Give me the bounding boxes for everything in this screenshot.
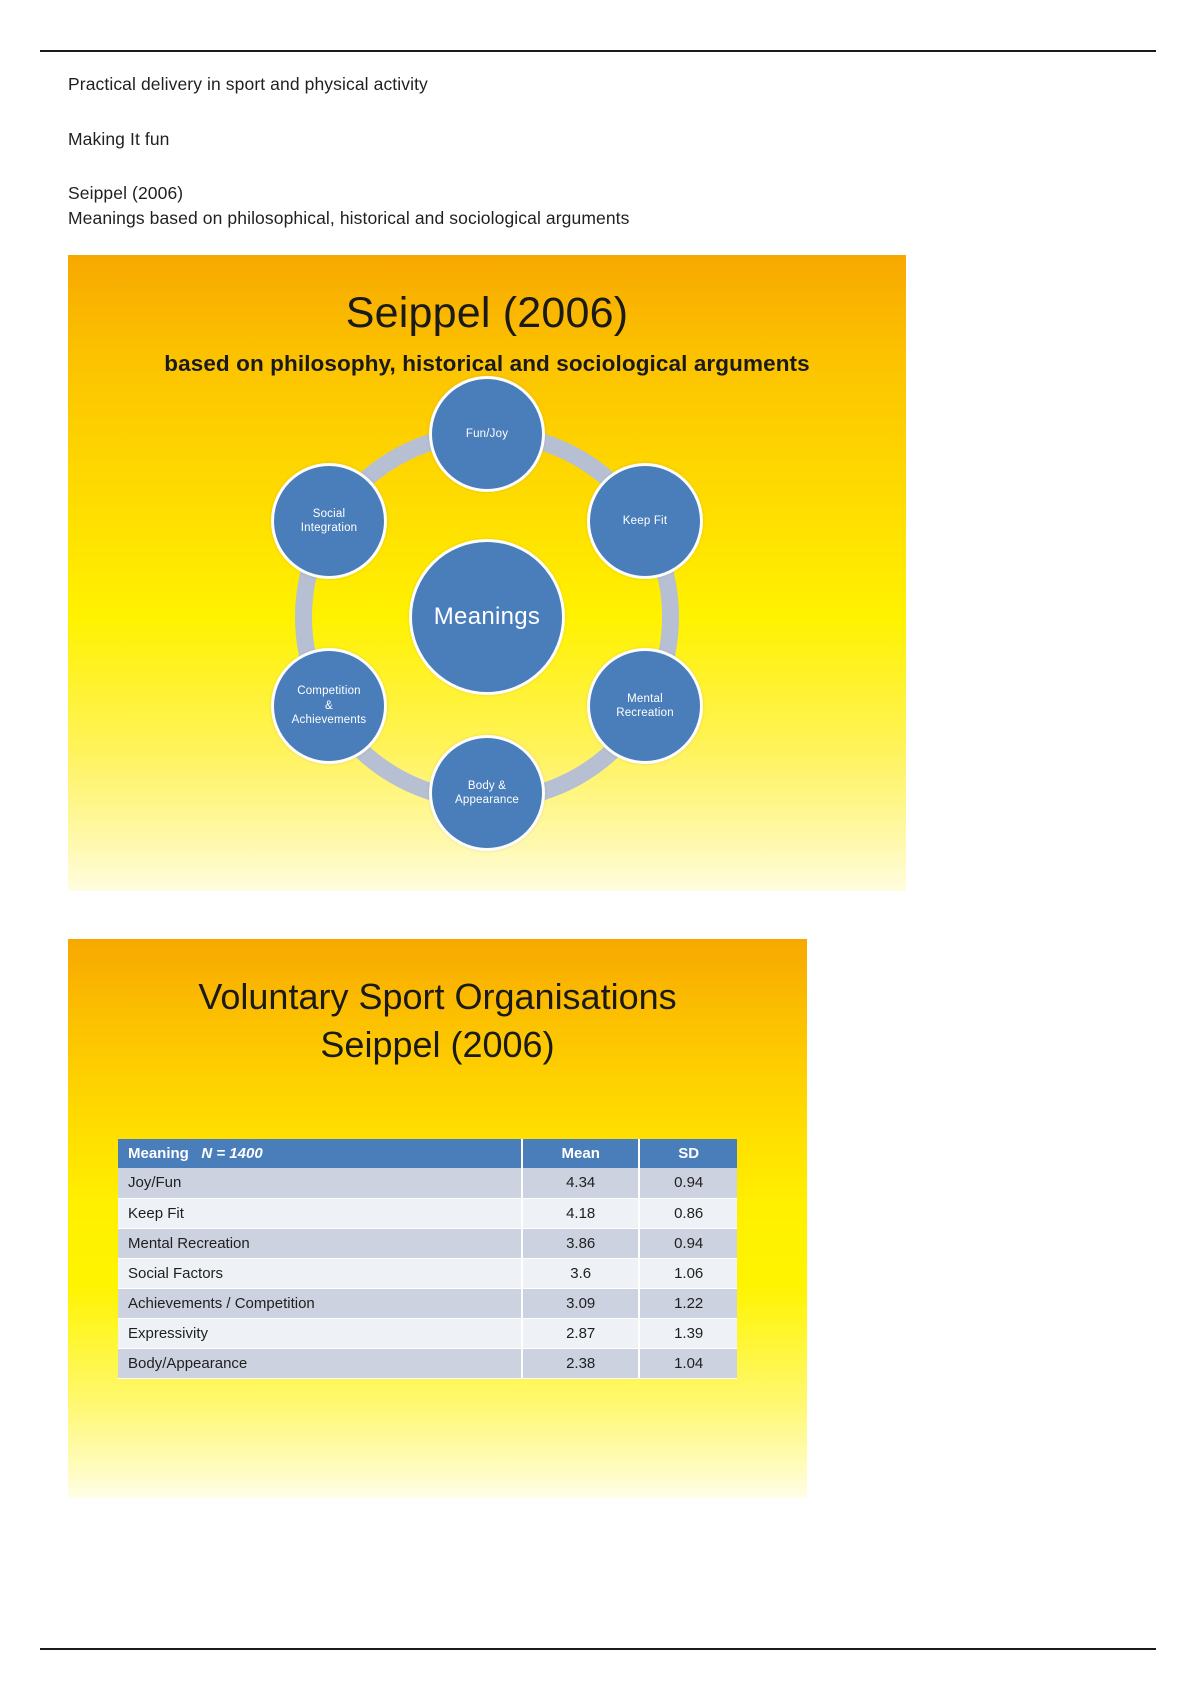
- slide-seippel-cycle: Seippel (2006) based on philosophy, hist…: [68, 255, 906, 891]
- table-row: Achievements / Competition3.091.22: [118, 1288, 737, 1318]
- cell-sd: 0.86: [639, 1198, 737, 1228]
- cell-sd: 0.94: [639, 1168, 737, 1198]
- cell-meaning: Keep Fit: [118, 1198, 522, 1228]
- cell-sd: 1.39: [639, 1318, 737, 1348]
- cycle-node-body-appearance: Body &Appearance: [429, 735, 545, 851]
- column-header-sd: SD: [639, 1139, 737, 1168]
- header-rule: [40, 50, 1156, 52]
- cell-sd: 1.06: [639, 1258, 737, 1288]
- table-row: Keep Fit4.180.86: [118, 1198, 737, 1228]
- cycle-diagram: Meanings Fun/Joy Keep Fit MentalRecreati…: [68, 383, 906, 891]
- table-header-row: Meaning N = 1400 Mean SD: [118, 1139, 737, 1168]
- column-header-meaning-label: Meaning: [128, 1145, 189, 1162]
- doc-line-citation: Seippel (2006): [68, 180, 183, 207]
- slide1-title: Seippel (2006): [68, 289, 906, 338]
- meanings-table-body: Joy/Fun4.340.94Keep Fit4.180.86Mental Re…: [118, 1168, 737, 1378]
- doc-line-description: Meanings based on philosophical, histori…: [68, 205, 630, 232]
- cell-mean: 3.6: [522, 1258, 639, 1288]
- cell-mean: 3.86: [522, 1228, 639, 1258]
- slide2-title: Voluntary Sport Organisations Seippel (2…: [68, 973, 807, 1068]
- slide2-title-line1: Voluntary Sport Organisations: [198, 976, 676, 1017]
- sample-size-label: N = 1400: [201, 1145, 262, 1162]
- table-row: Social Factors3.61.06: [118, 1258, 737, 1288]
- doc-line-heading: Practical delivery in sport and physical…: [68, 71, 428, 98]
- cell-meaning: Social Factors: [118, 1258, 522, 1288]
- table-row: Joy/Fun4.340.94: [118, 1168, 737, 1198]
- document-page: Practical delivery in sport and physical…: [0, 0, 1200, 1700]
- meanings-table: Meaning N = 1400 Mean SD Joy/Fun4.340.94…: [118, 1139, 737, 1379]
- cell-mean: 2.87: [522, 1318, 639, 1348]
- cycle-node-mental-recreation: MentalRecreation: [587, 648, 703, 764]
- cell-mean: 3.09: [522, 1288, 639, 1318]
- table-row: Mental Recreation3.860.94: [118, 1228, 737, 1258]
- column-header-mean: Mean: [522, 1139, 639, 1168]
- column-header-meaning: Meaning N = 1400: [118, 1139, 522, 1168]
- meanings-table-wrapper: Meaning N = 1400 Mean SD Joy/Fun4.340.94…: [118, 1139, 737, 1379]
- cycle-node-fun-joy: Fun/Joy: [429, 376, 545, 492]
- cell-meaning: Expressivity: [118, 1318, 522, 1348]
- footer-rule: [40, 1648, 1156, 1650]
- cell-meaning: Mental Recreation: [118, 1228, 522, 1258]
- cell-mean: 4.18: [522, 1198, 639, 1228]
- table-row: Body/Appearance2.381.04: [118, 1348, 737, 1378]
- doc-line-subheading: Making It fun: [68, 126, 170, 153]
- cell-sd: 0.94: [639, 1228, 737, 1258]
- cycle-node-keep-fit: Keep Fit: [587, 463, 703, 579]
- cell-sd: 1.04: [639, 1348, 737, 1378]
- cell-sd: 1.22: [639, 1288, 737, 1318]
- cycle-center-node: Meanings: [409, 539, 565, 695]
- cell-mean: 2.38: [522, 1348, 639, 1378]
- cell-meaning: Joy/Fun: [118, 1168, 522, 1198]
- cell-meaning: Body/Appearance: [118, 1348, 522, 1378]
- meanings-table-head: Meaning N = 1400 Mean SD: [118, 1139, 737, 1168]
- slide2-title-line2: Seippel (2006): [68, 1021, 807, 1069]
- slide1-subtitle: based on philosophy, historical and soci…: [68, 351, 906, 377]
- cycle-node-competition-achievements: Competition&Achievements: [271, 648, 387, 764]
- cell-meaning: Achievements / Competition: [118, 1288, 522, 1318]
- cycle-node-social-integration: SocialIntegration: [271, 463, 387, 579]
- cell-mean: 4.34: [522, 1168, 639, 1198]
- slide-voluntary-sport-organisations: Voluntary Sport Organisations Seippel (2…: [68, 939, 807, 1498]
- table-row: Expressivity2.871.39: [118, 1318, 737, 1348]
